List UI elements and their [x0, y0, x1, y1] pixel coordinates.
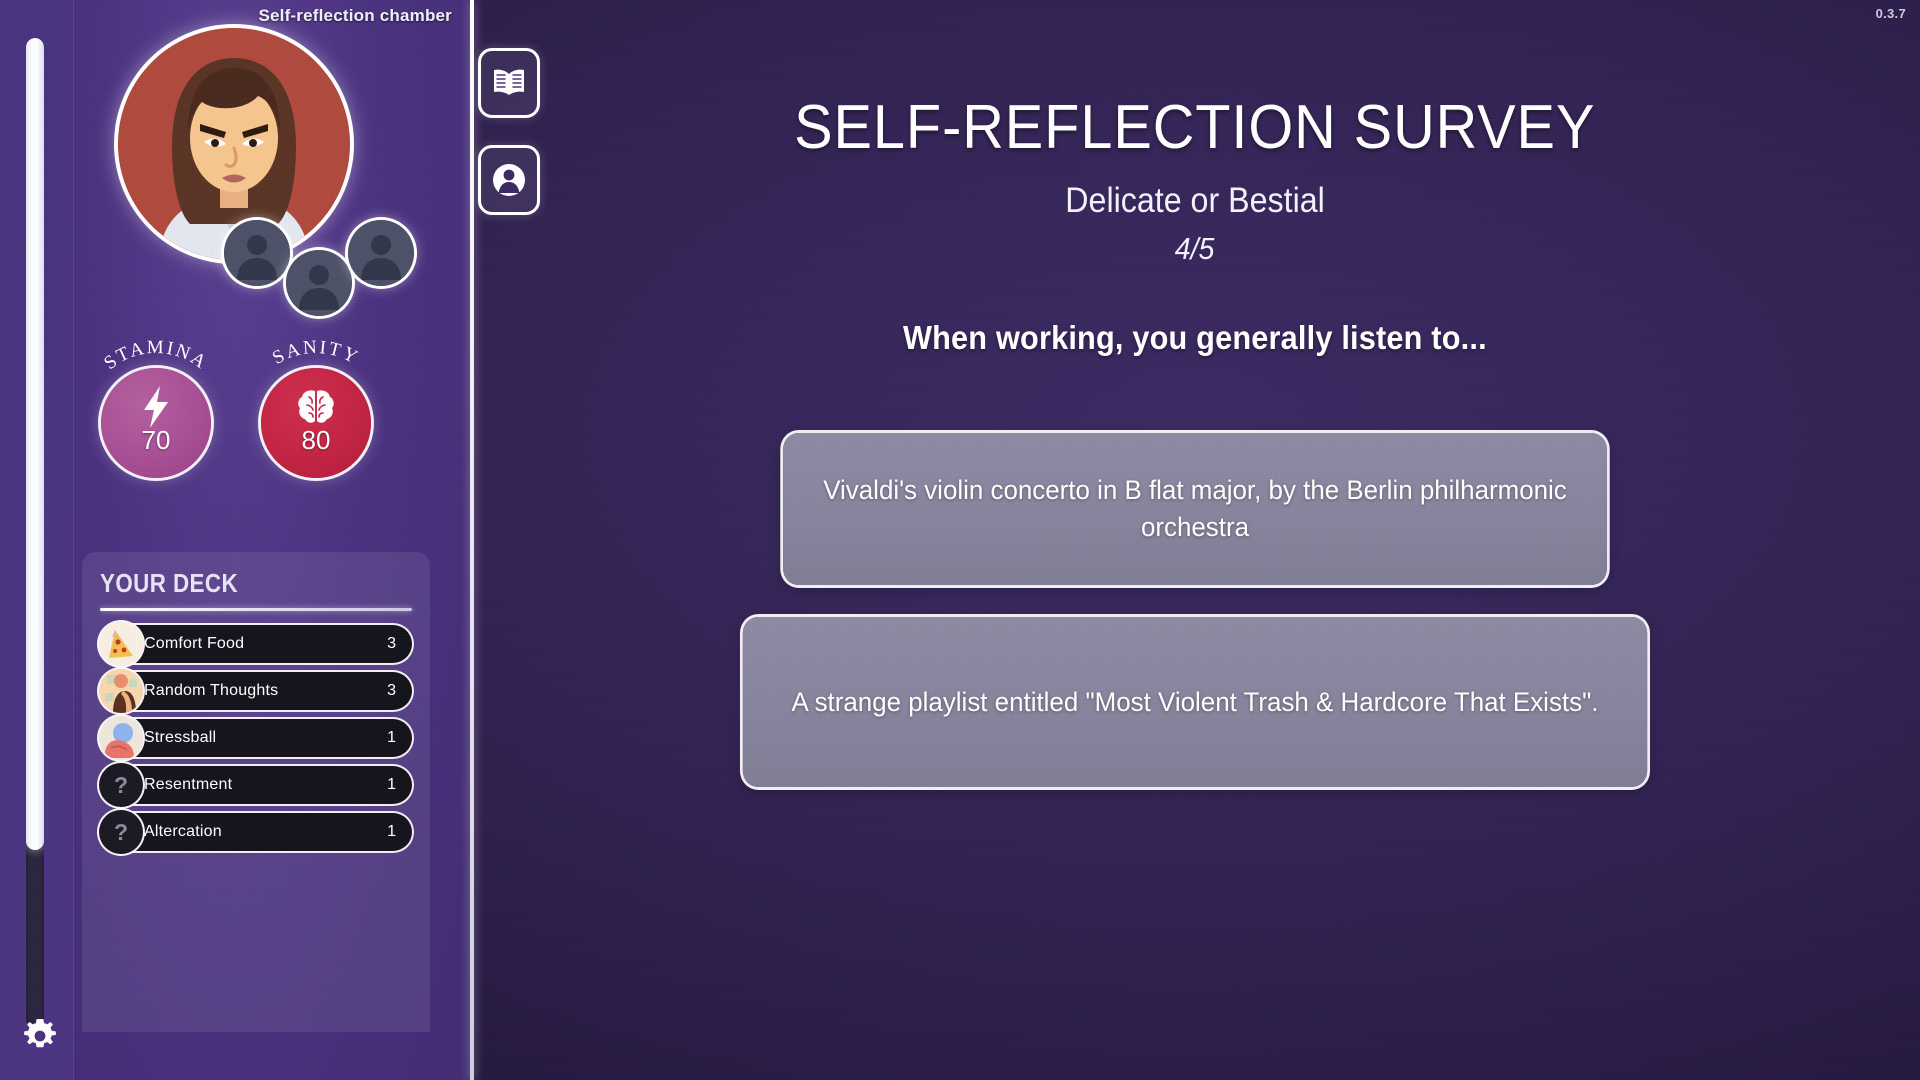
deck-item-altercation[interactable]: ? Altercation 1 [100, 813, 412, 851]
stat-stamina-circle: 70 [101, 368, 211, 478]
deck-item-count: 3 [387, 682, 396, 700]
survey-subtitle: Delicate or Bestial [1065, 181, 1325, 221]
stat-sanity-label: SANITY [269, 337, 363, 369]
mini-avatar-1[interactable] [224, 220, 290, 286]
svg-text:SANITY: SANITY [269, 337, 363, 369]
answers-list: Vivaldi's violin concerto in B flat majo… [470, 433, 1920, 787]
chamber-title: Self-reflection chamber [0, 6, 470, 26]
deck-list: Comfort Food 3 Random Thoughts [100, 625, 412, 851]
survey-progress: 4/5 [1175, 231, 1215, 267]
mini-avatar-3[interactable] [348, 220, 414, 286]
answer-option-2[interactable]: A strange playlist entitled "Most Violen… [743, 617, 1647, 787]
stat-stamina-value: 70 [142, 425, 171, 456]
pizza-slice-icon [99, 622, 143, 666]
deck-item-count: 1 [387, 823, 396, 841]
deck-item-label: Comfort Food [144, 635, 387, 653]
settings-gear-button[interactable] [18, 1014, 62, 1058]
stat-stamina: STAMINA 70 [94, 340, 218, 500]
answer-option-1[interactable]: Vivaldi's violin concerto in B flat majo… [783, 433, 1607, 585]
deck-item-label: Stressball [144, 729, 387, 747]
deck-item-label: Resentment [144, 776, 387, 794]
deck-item-random-thoughts[interactable]: Random Thoughts 3 [100, 672, 412, 710]
mini-avatar-2[interactable] [286, 250, 352, 316]
deck-item-resentment[interactable]: ? Resentment 1 [100, 766, 412, 804]
sidebar-panel: Self-reflection chamber [0, 0, 470, 1080]
deck-item-count: 1 [387, 776, 396, 794]
lightning-bolt-icon [141, 387, 171, 427]
vertical-progress-bar-fill [26, 38, 44, 850]
deck-item-label: Random Thoughts [144, 682, 387, 700]
survey-container: SELF-REFLECTION SURVEY Delicate or Besti… [470, 0, 1920, 1080]
stats-row: STAMINA 70 SANITY [88, 340, 388, 500]
question-mark-icon: ? [99, 810, 143, 854]
thinking-head-icon [99, 669, 143, 713]
deck-item-count: 3 [387, 635, 396, 653]
deck-panel: YOUR DECK Comfort Food 3 [82, 552, 430, 1032]
gear-icon [23, 1019, 57, 1053]
deck-item-label: Altercation [144, 823, 387, 841]
vertical-progress-bar[interactable] [26, 38, 44, 1028]
stat-sanity-circle: 80 [261, 368, 371, 478]
deck-item-comfort-food[interactable]: Comfort Food 3 [100, 625, 412, 663]
player-portrait [118, 28, 350, 260]
deck-title: YOUR DECK [100, 568, 368, 599]
stat-sanity-value: 80 [302, 425, 331, 456]
question-mark-icon: ? [99, 763, 143, 807]
deck-item-count: 1 [387, 729, 396, 747]
survey-title: SELF-REFLECTION SURVEY [794, 92, 1595, 163]
main-panel: 0.3.7 SELF-REFLECTION SURVEY Delicate or… [470, 0, 1920, 1080]
brain-icon [297, 387, 335, 427]
survey-question: When working, you generally listen to... [903, 319, 1487, 357]
deck-item-stressball[interactable]: Stressball 1 [100, 719, 412, 757]
deck-divider [100, 608, 412, 611]
stat-sanity: SANITY 80 [254, 340, 378, 500]
portrait-group [118, 28, 350, 260]
stressball-icon [99, 716, 143, 760]
